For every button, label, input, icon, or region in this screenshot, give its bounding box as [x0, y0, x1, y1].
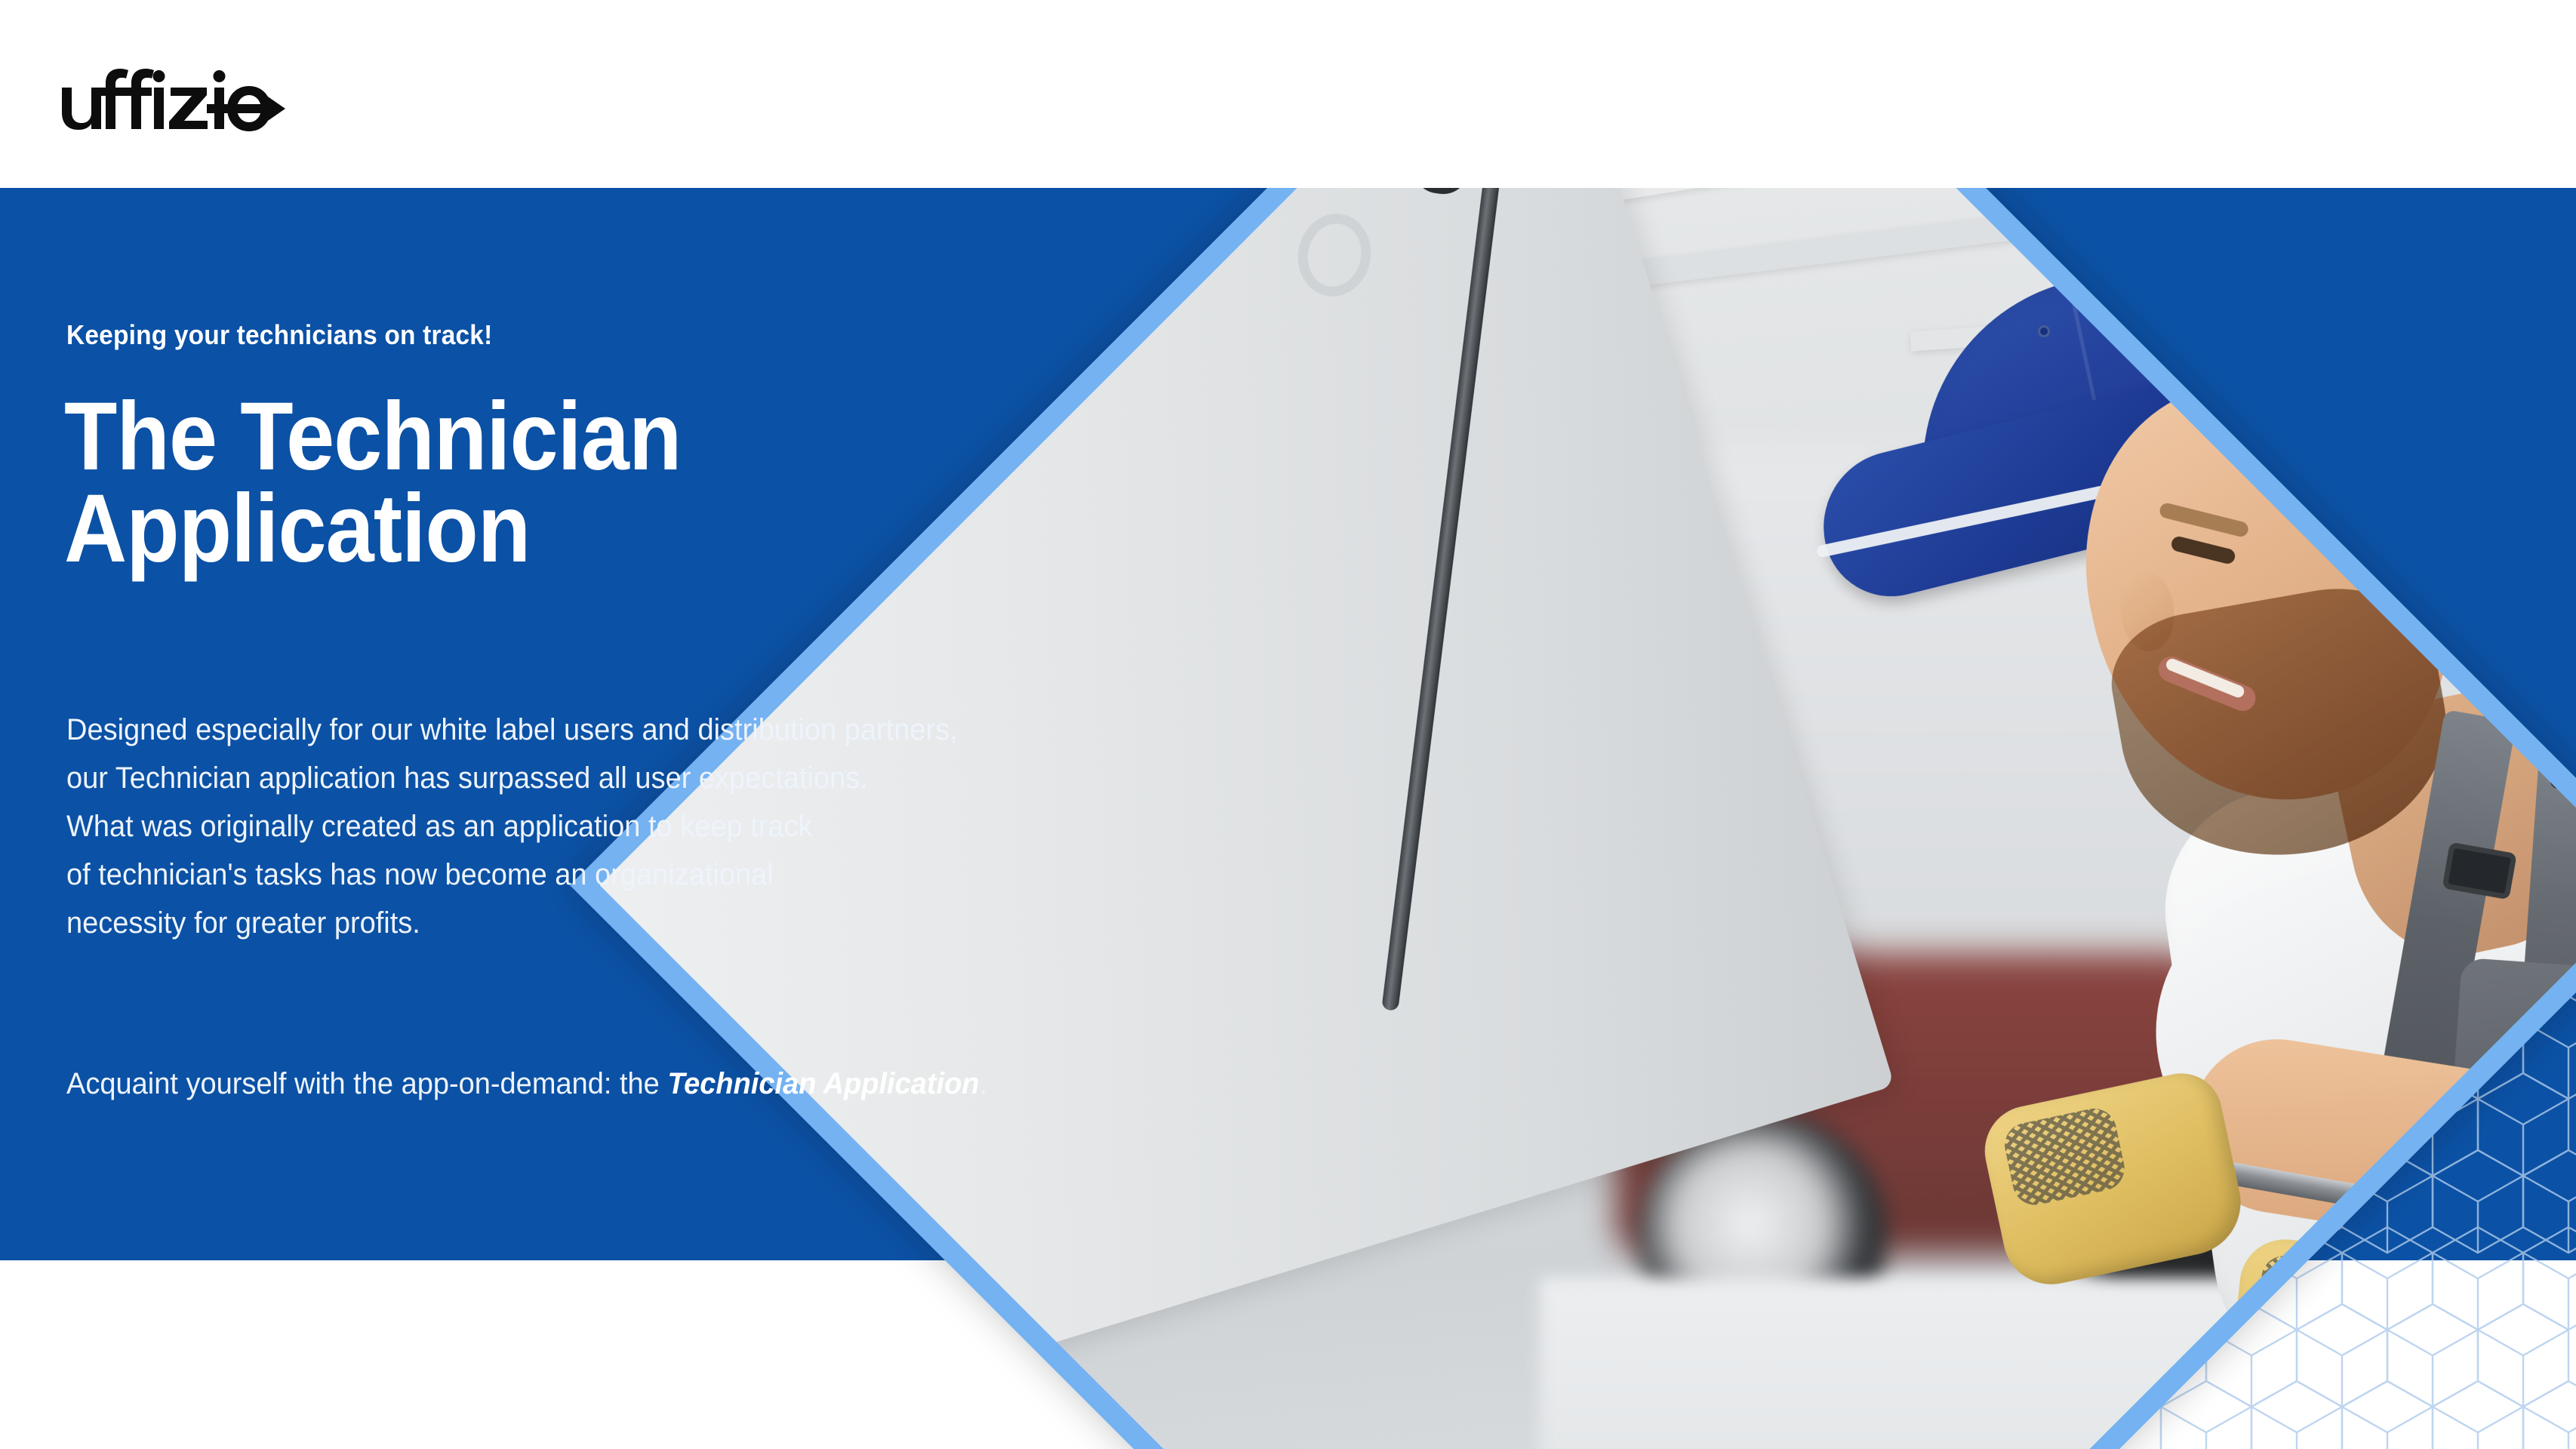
closing-emphasis: Technician Application: [667, 1067, 979, 1100]
arrow-head: [266, 95, 285, 122]
logo-bar: [0, 0, 2576, 188]
headline-line-1: The Technician: [64, 391, 981, 483]
closing-suffix: .: [979, 1067, 987, 1100]
arrow-shaft: [207, 104, 275, 113]
glove-knit-texture: [2001, 1104, 2129, 1209]
closing-prefix: Acquaint yourself with the app-on-demand…: [66, 1067, 667, 1100]
body-line-1: Designed especially for our white label …: [66, 706, 1214, 754]
headline-line-2: Application: [64, 483, 981, 575]
work-glove: [1977, 1066, 2251, 1293]
hero-closing-line: Acquaint yourself with the app-on-demand…: [66, 1063, 987, 1105]
uffizio-logo[interactable]: [59, 65, 285, 139]
body-line-5: necessity for greater profits.: [66, 899, 1214, 947]
body-line-3: What was originally created as an applic…: [66, 802, 1214, 851]
page-title: The Technician Application: [64, 391, 981, 574]
cap-eyelet: [2038, 325, 2050, 337]
body-line-4: of technician's tasks has now become an …: [66, 851, 1214, 899]
logo-wordmark: [62, 69, 285, 131]
body-line-2: our Technician application has surpassed…: [66, 754, 1214, 802]
hero-kicker: Keeping your technicians on track!: [66, 319, 492, 351]
hero-body-copy: Designed especially for our white label …: [66, 706, 1214, 947]
